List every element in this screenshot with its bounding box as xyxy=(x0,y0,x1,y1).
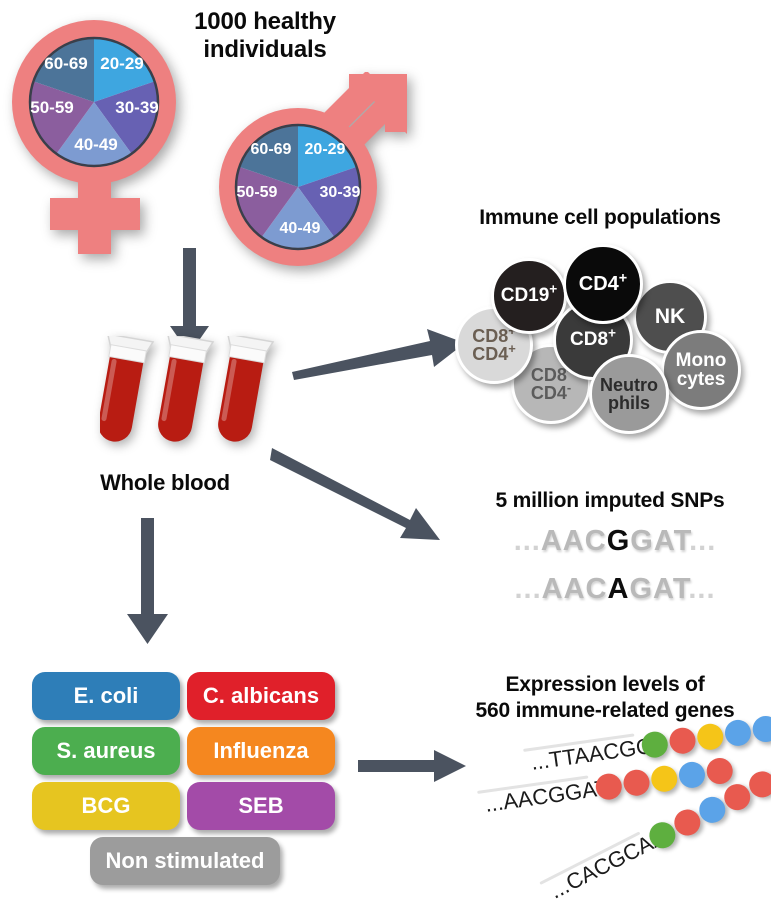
pie-label-50-59: 50-59 xyxy=(30,98,73,117)
snp-lead-dots: ... xyxy=(514,525,541,557)
arrow-blood-to-stimuli xyxy=(118,518,178,648)
blood-tubes-illustration xyxy=(100,336,290,466)
stimulus-c-albicans[interactable]: C. albicans xyxy=(187,672,335,720)
expression-bead xyxy=(705,756,734,785)
immune-cell-cd4[interactable]: CD4+ xyxy=(563,244,643,324)
gene-expression-strands-group: ...TTAACGG...AACGGAT...CACGCAA xyxy=(455,736,771,916)
stimulus-seb[interactable]: SEB xyxy=(187,782,335,830)
stimulus-influenza[interactable]: Influenza xyxy=(187,727,335,775)
blood-tube xyxy=(150,336,214,445)
expression-bead xyxy=(696,722,725,751)
immune-cell-label: CD8+ xyxy=(570,330,616,349)
immune-cell-mono-cytes[interactable]: Monocytes xyxy=(661,330,741,410)
blood-tube xyxy=(210,336,274,445)
immune-cell-label: CD19+ xyxy=(501,286,558,305)
stimulus-e-coli[interactable]: E. coli xyxy=(32,672,180,720)
arrow-blood-to-snps xyxy=(270,440,460,550)
stimulus-label: E. coli xyxy=(74,683,139,709)
expression-bead xyxy=(622,768,651,797)
stimulus-s-aureus[interactable]: S. aureus xyxy=(32,727,180,775)
expression-bead xyxy=(677,760,706,789)
snp-flank-left: AAC xyxy=(542,573,608,605)
label-whole-blood: Whole blood xyxy=(70,470,260,496)
pie-label-40-49: 40-49 xyxy=(74,135,117,154)
section-title-expression: Expression levels of 560 immune-related … xyxy=(440,672,770,723)
snp-sequence-row: ...AACAGAT... xyxy=(470,573,760,606)
pie-label-20-29: 20-29 xyxy=(305,141,346,158)
section-title-immune-cells: Immune cell populations xyxy=(440,206,760,231)
female-symbol-with-age-pie: 20-29 30-39 40-49 50-59 60-69 xyxy=(8,12,198,262)
stimulus-label: Non stimulated xyxy=(106,848,265,874)
stimulus-label: BCG xyxy=(82,793,131,819)
snp-tail-dots: ... xyxy=(688,573,715,605)
snp-flank-left: AAC xyxy=(541,525,607,557)
immune-cell-label: Monocytes xyxy=(676,351,727,390)
snp-variant-allele: G xyxy=(607,525,631,557)
snp-flank-right: GAT xyxy=(630,525,689,557)
mars-icon: 20-29 30-39 40-49 50-59 60-69 xyxy=(205,72,420,272)
snp-tail-dots: ... xyxy=(689,525,716,557)
stimulus-label: S. aureus xyxy=(56,738,155,764)
arrow-blood-to-immune xyxy=(290,325,465,380)
male-symbol-with-age-pie: 20-29 30-39 40-49 50-59 60-69 xyxy=(205,72,420,272)
stimulus-label: C. albicans xyxy=(203,683,319,709)
immune-cell-label: NK xyxy=(655,306,685,327)
immune-cell-neutro-phils[interactable]: Neutrophils xyxy=(589,354,669,434)
immune-cell-label: Neutrophils xyxy=(600,376,658,413)
immune-cell-population-group: CD19+CD4+NKCD8+CD8+CD4+CD8-CD4-Neutrophi… xyxy=(455,238,755,428)
stimulus-label: Influenza xyxy=(213,738,308,764)
snp-sequence-row: ...AACGGAT... xyxy=(470,525,760,558)
venus-icon: 20-29 30-39 40-49 50-59 60-69 xyxy=(8,12,198,262)
snp-lead-dots: ... xyxy=(515,573,542,605)
pie-label-30-39: 30-39 xyxy=(320,184,361,201)
snp-flank-right: GAT xyxy=(629,573,688,605)
expression-bead xyxy=(668,726,697,755)
pie-label-40-49: 40-49 xyxy=(280,220,321,237)
pie-label-30-39: 30-39 xyxy=(115,98,158,117)
immune-cell-label: CD8-CD4- xyxy=(531,366,571,403)
pie-label-50-59: 50-59 xyxy=(237,184,278,201)
expression-bead xyxy=(650,764,679,793)
stimulation-conditions-group: E. coliC. albicansS. aureusInfluenzaBCGS… xyxy=(32,672,342,902)
stimulus-bcg[interactable]: BCG xyxy=(32,782,180,830)
immune-cell-label: CD8+CD4+ xyxy=(472,327,516,364)
snp-variant-allele: A xyxy=(608,573,630,605)
section-title-snps: 5 million imputed SNPs xyxy=(450,489,770,514)
pie-label-60-69: 60-69 xyxy=(44,54,87,73)
stimulus-non-stimulated[interactable]: Non stimulated xyxy=(90,837,280,885)
stimulus-label: SEB xyxy=(238,793,283,819)
snp-sequence-illustration: ...AACGGAT... ...AACAGAT... xyxy=(470,525,760,625)
expression-title-line-2: 560 immune-related genes xyxy=(440,698,770,724)
expression-title-line-1: Expression levels of xyxy=(440,672,770,698)
pie-label-20-29: 20-29 xyxy=(100,54,143,73)
blood-tube xyxy=(100,336,153,445)
blood-tube-group xyxy=(100,336,290,466)
arrow-stimuli-to-expression xyxy=(358,748,468,784)
immune-cell-label: CD4+ xyxy=(579,274,627,294)
pie-label-60-69: 60-69 xyxy=(251,141,292,158)
